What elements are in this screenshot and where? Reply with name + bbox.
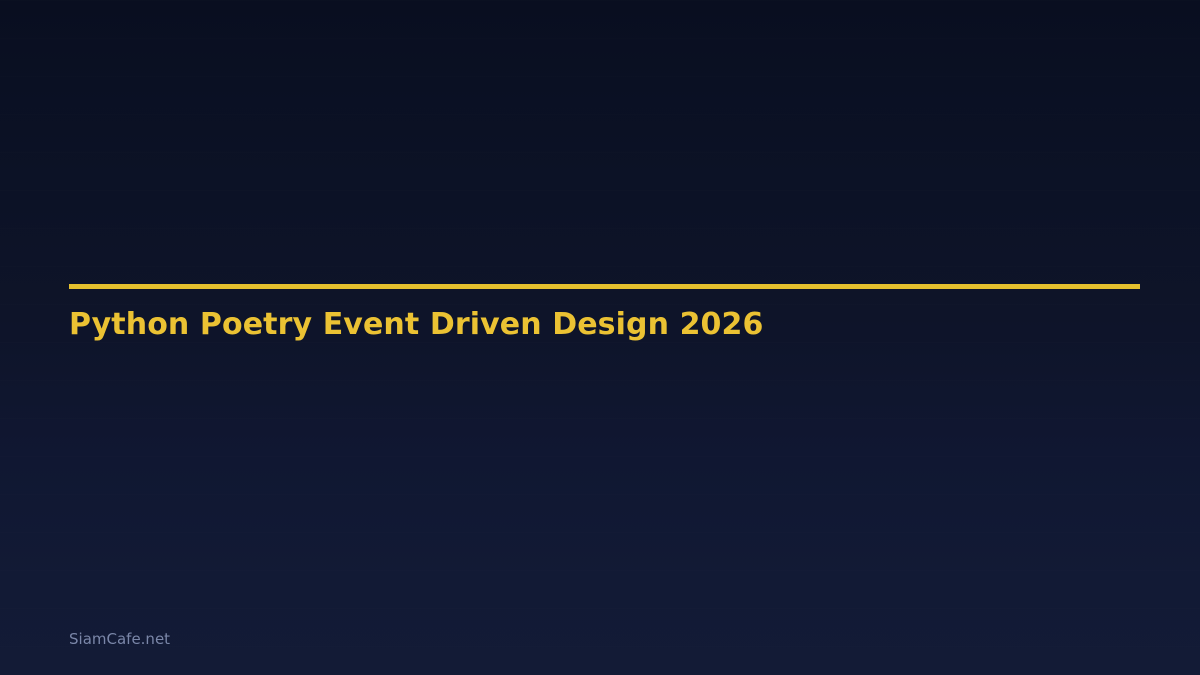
page-title: Python Poetry Event Driven Design 2026	[69, 310, 763, 340]
accent-rule	[69, 284, 1140, 289]
footer-site-label: SiamCafe.net	[69, 630, 170, 648]
presentation-slide: Python Poetry Event Driven Design 2026 S…	[0, 0, 1200, 675]
title-block: Python Poetry Event Driven Design 2026	[69, 284, 1140, 289]
footer: SiamCafe.net	[69, 630, 170, 648]
